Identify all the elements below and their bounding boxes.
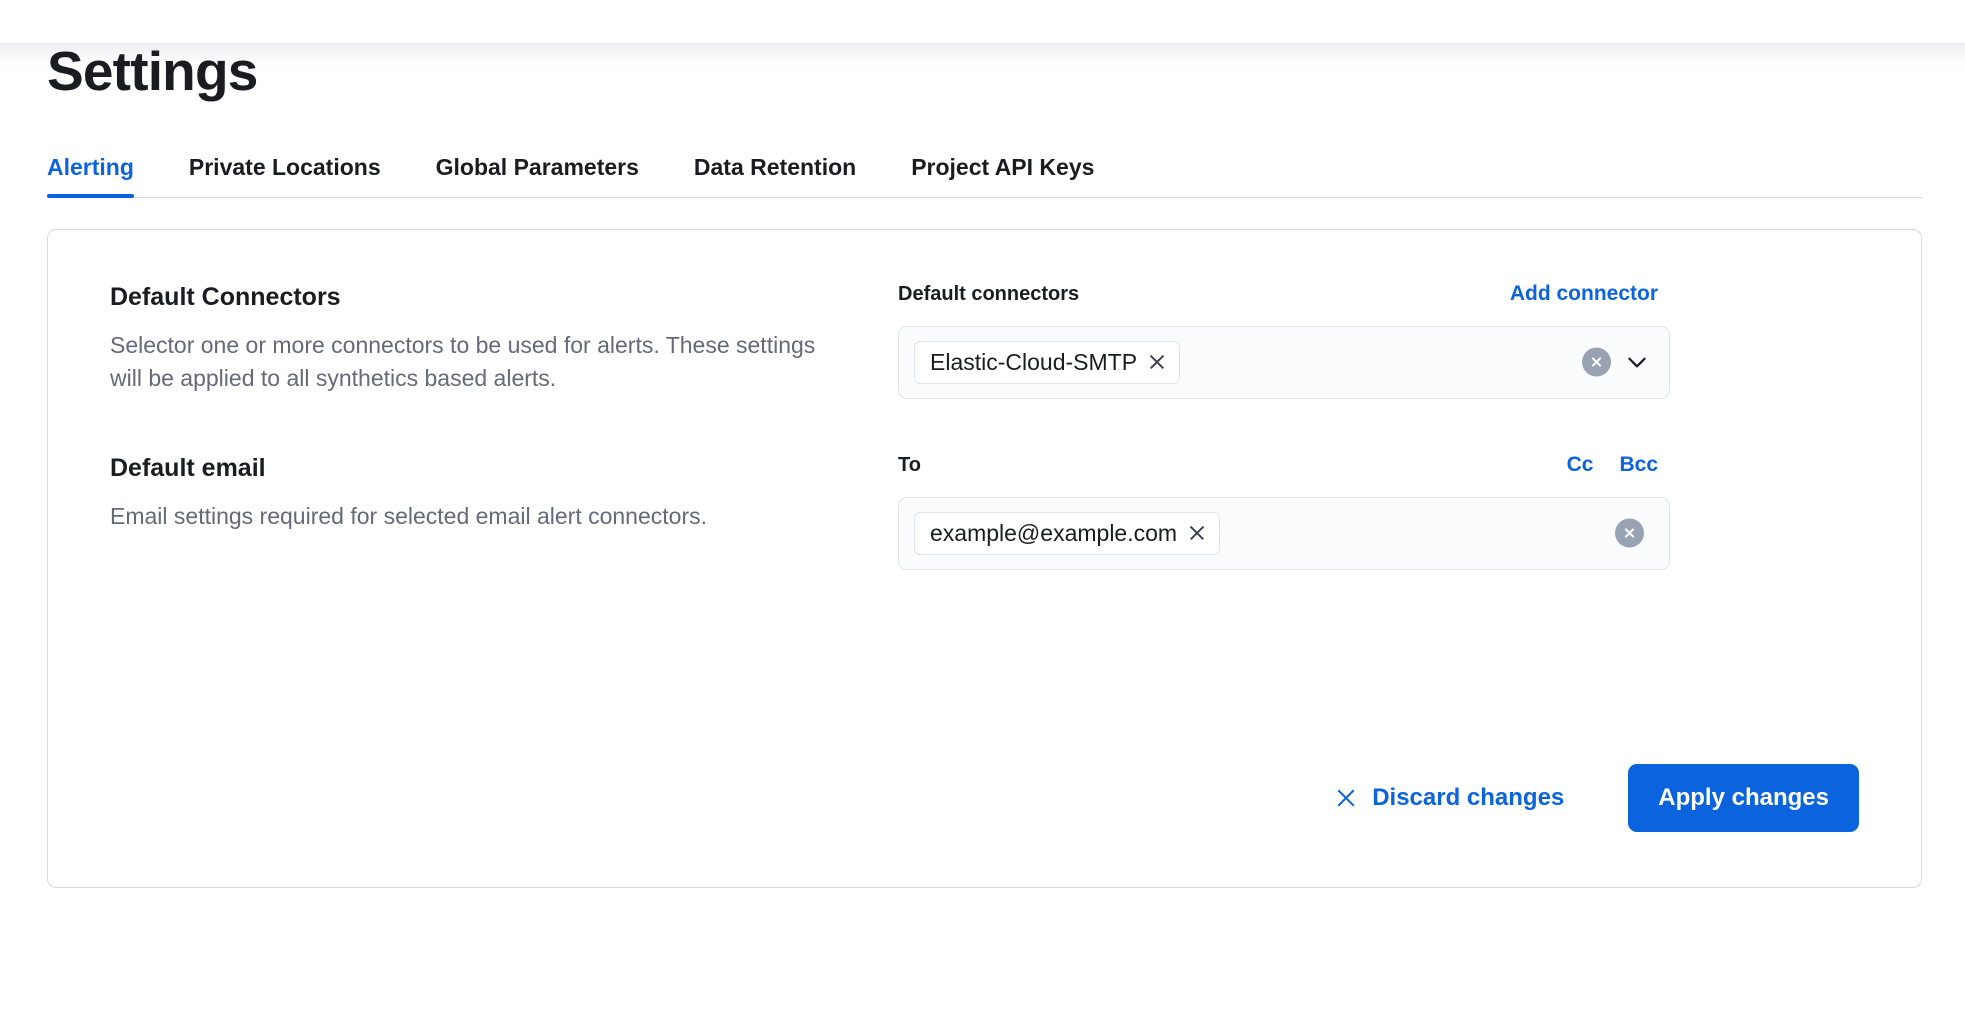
add-connector-link[interactable]: Add connector: [1510, 282, 1658, 306]
settings-page: Settings Alerting Private Locations Glob…: [0, 43, 1965, 888]
discard-changes-label: Discard changes: [1372, 784, 1564, 812]
email-pill-label: example@example.com: [930, 522, 1177, 545]
alerting-settings-panel: Default Connectors Selector one or more …: [47, 229, 1922, 888]
cc-link[interactable]: Cc: [1567, 453, 1594, 477]
tab-alerting[interactable]: Alerting: [47, 154, 134, 197]
default-connectors-combobox[interactable]: Elastic-Cloud-SMTP: [898, 326, 1670, 399]
default-email-field-column: To Cc Bcc example@example.com: [898, 453, 1658, 570]
default-connectors-field-header: Default connectors Add connector: [898, 282, 1658, 312]
email-pill-remove-icon[interactable]: [1188, 524, 1206, 542]
panel-content: Default Connectors Selector one or more …: [48, 230, 1921, 570]
bcc-link[interactable]: Bcc: [1619, 453, 1658, 477]
connector-pill-label: Elastic-Cloud-SMTP: [930, 351, 1137, 374]
to-recipients-combobox[interactable]: example@example.com: [898, 497, 1670, 570]
page-title: Settings: [47, 43, 1925, 101]
email-pill[interactable]: example@example.com: [914, 512, 1220, 555]
default-connectors-description-column: Default Connectors Selector one or more …: [110, 282, 898, 395]
clear-selection-icon[interactable]: [1582, 348, 1611, 377]
default-connectors-title: Default Connectors: [110, 282, 858, 313]
default-email-description: Email settings required for selected ema…: [110, 500, 850, 533]
panel-footer-actions: Discard changes Apply changes: [1321, 764, 1859, 832]
default-email-title: Default email: [110, 453, 858, 484]
connector-pill-remove-icon[interactable]: [1148, 353, 1166, 371]
cc-bcc-group: Cc Bcc: [1567, 453, 1658, 477]
chevron-down-icon[interactable]: [1623, 348, 1651, 376]
to-label: To: [898, 454, 921, 477]
default-connectors-field-column: Default connectors Add connector Elastic…: [898, 282, 1658, 399]
tab-data-retention[interactable]: Data Retention: [694, 154, 856, 197]
default-connectors-description: Selector one or more connectors to be us…: [110, 329, 850, 394]
tab-project-api-keys[interactable]: Project API Keys: [911, 154, 1094, 197]
discard-changes-button[interactable]: Discard changes: [1321, 772, 1578, 824]
tab-private-locations[interactable]: Private Locations: [189, 154, 381, 197]
settings-tablist: Alerting Private Locations Global Parame…: [47, 154, 1922, 198]
default-connectors-row: Default Connectors Selector one or more …: [110, 282, 1859, 399]
default-email-field-header: To Cc Bcc: [898, 453, 1658, 483]
default-connectors-label: Default connectors: [898, 283, 1079, 306]
section-spacer: [110, 399, 1859, 453]
apply-changes-button[interactable]: Apply changes: [1628, 764, 1859, 832]
connector-pill[interactable]: Elastic-Cloud-SMTP: [914, 341, 1180, 384]
tab-global-parameters[interactable]: Global Parameters: [436, 154, 639, 197]
default-email-description-column: Default email Email settings required fo…: [110, 453, 898, 533]
default-email-row: Default email Email settings required fo…: [110, 453, 1859, 570]
close-icon: [1335, 787, 1357, 809]
clear-recipients-icon[interactable]: [1615, 519, 1644, 548]
